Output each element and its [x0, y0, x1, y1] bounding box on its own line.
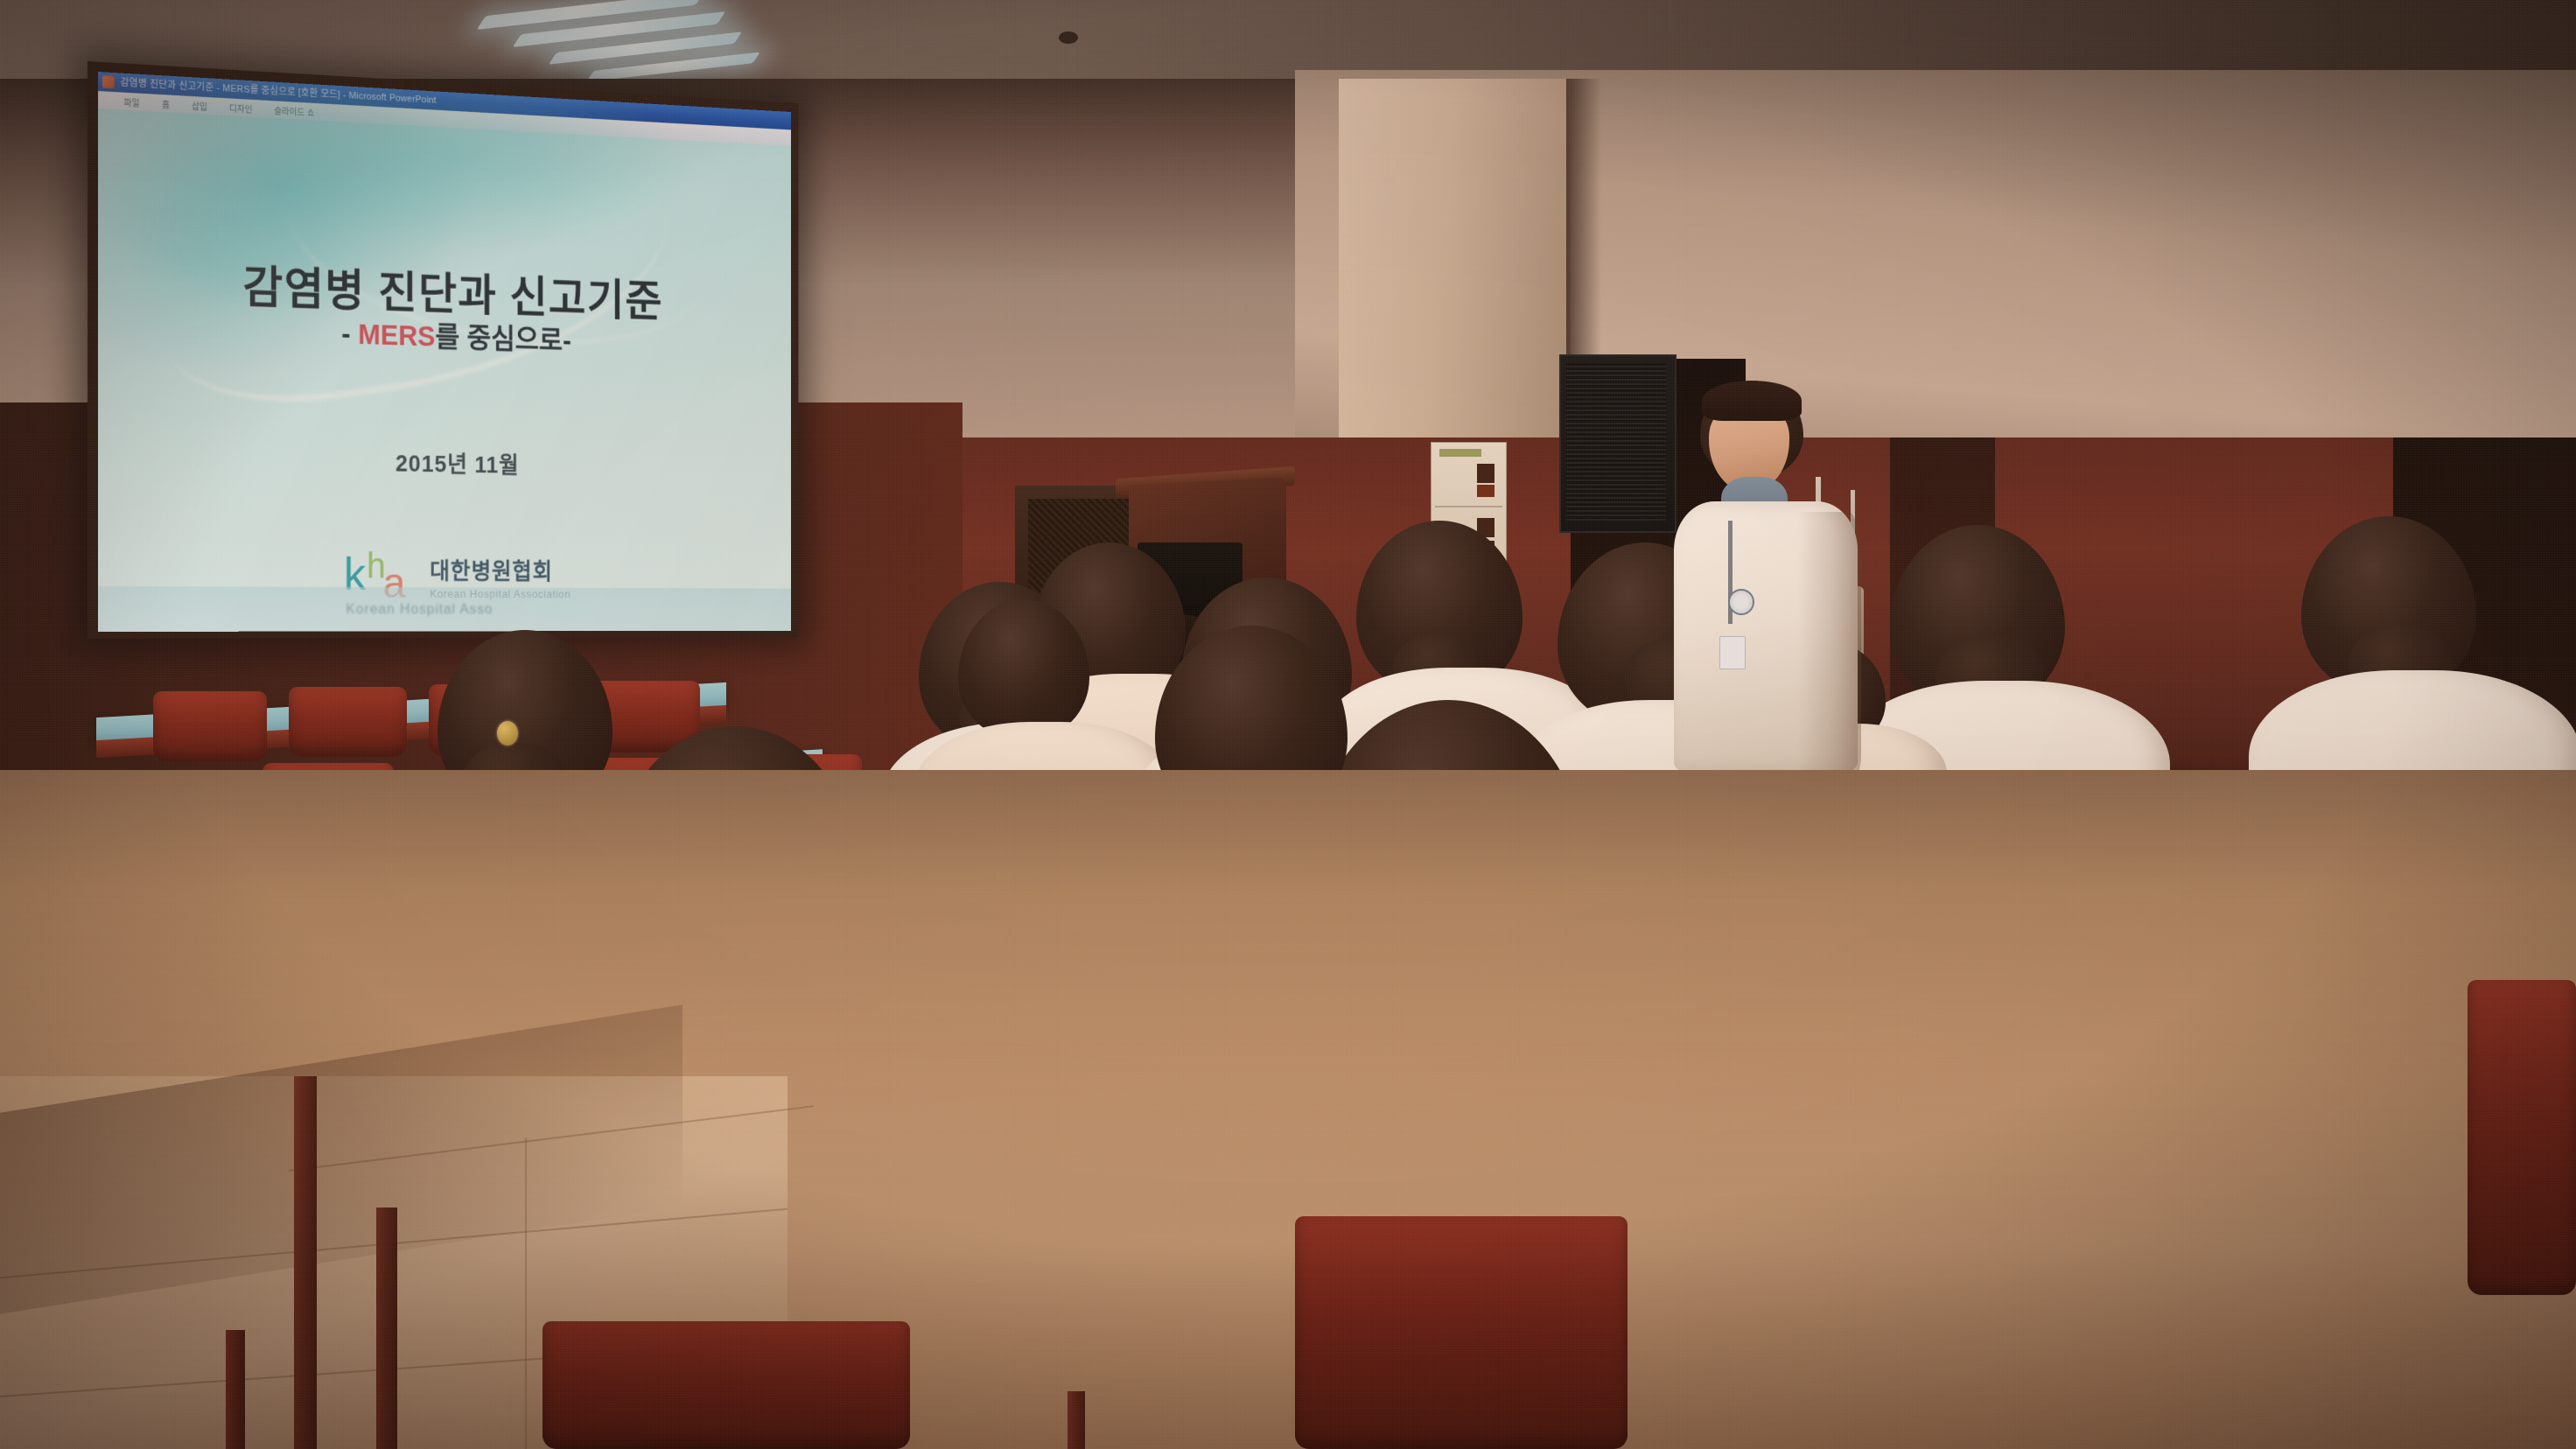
presenter-id-badge — [1719, 636, 1746, 669]
ceiling-smoke-detector — [1059, 31, 1078, 44]
foreground-table-leg-left — [294, 1076, 317, 1449]
presenter-coat-emblem — [1728, 589, 1754, 615]
organization-name-kr: 대한병원협회 — [430, 553, 570, 586]
chair-back-row1-a — [153, 691, 267, 761]
chair-closest-right[interactable] — [1295, 1216, 1627, 1449]
notice-swatch-2 — [1477, 485, 1494, 497]
slide-canvas: 감염병 진단과 신고기준 - MERS를 중심으로- 2015년 11월 k h… — [98, 108, 791, 632]
slide-date: 2015년 11월 — [98, 439, 791, 484]
chair-closest-far-right[interactable] — [2467, 980, 2576, 1295]
slide-subtitle-prefix: - — [341, 318, 358, 350]
notice-header-band — [1439, 449, 1481, 457]
notice-swatch-1 — [1477, 464, 1494, 483]
slide-subtitle-highlight: MERS — [358, 318, 435, 353]
lecture-room-photo: 감염병 진단과 신고기준 - MERS를 중심으로 [호환 모드] - Micr… — [0, 0, 2576, 1449]
foreground-table-leg-left2 — [376, 1207, 397, 1449]
wall-pillar — [1339, 79, 1571, 464]
presenter-coat-shadow — [1798, 512, 1861, 774]
slide-subtitle-suffix: 를 중심으로- — [435, 321, 570, 356]
foreground-chair-leg-a — [226, 1330, 245, 1449]
slide-footer-ghost-text: Korean Hospital Asso — [346, 601, 493, 618]
foreground-chair-leg-c — [1067, 1391, 1085, 1449]
person-1-hairclip — [497, 721, 518, 745]
chair-closest-left[interactable] — [542, 1321, 910, 1449]
projection-screen[interactable]: 감염병 진단과 신고기준 - MERS를 중심으로 [호환 모드] - Micr… — [98, 72, 791, 632]
presenter-hair-front — [1702, 381, 1802, 421]
chair-back-row1-b — [289, 687, 407, 757]
speaker-grill — [1566, 363, 1666, 521]
